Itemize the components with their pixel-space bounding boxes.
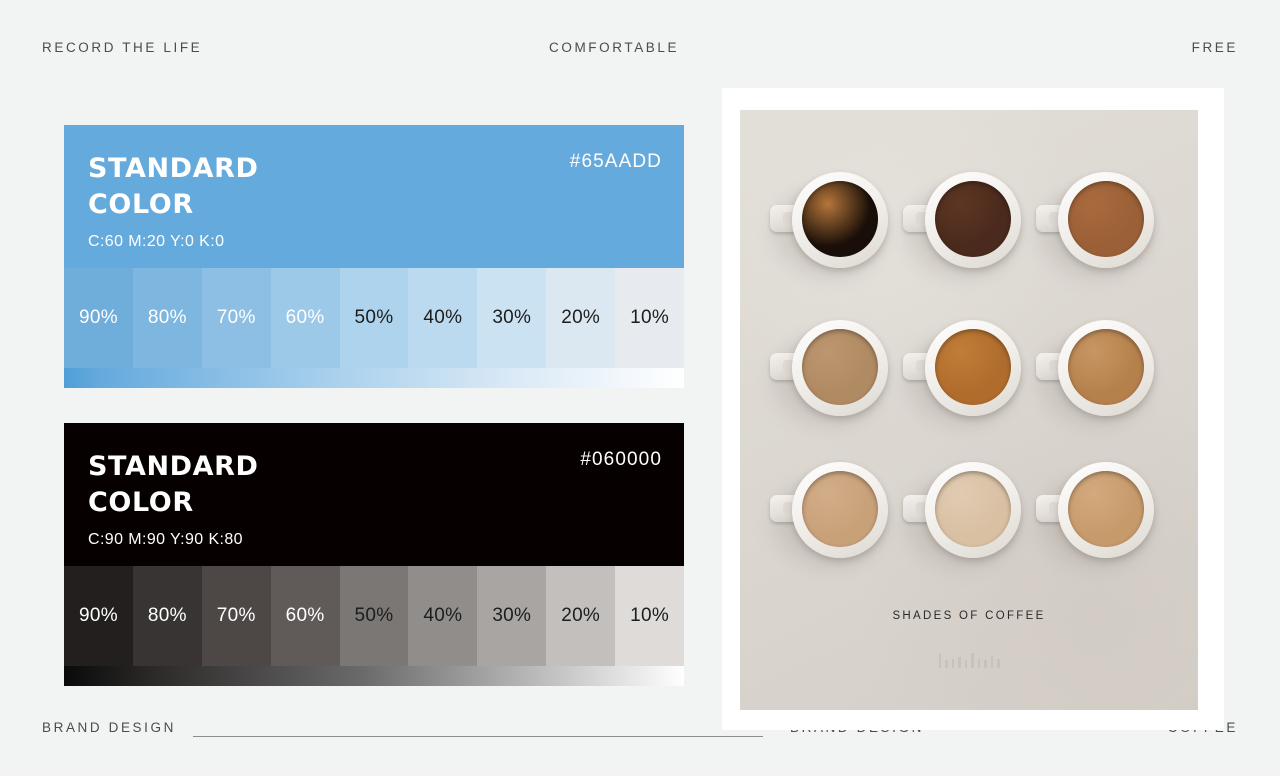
cup-body: [1058, 462, 1154, 558]
motif-bar: [945, 660, 948, 668]
footer-label-left: BRAND DESIGN: [42, 720, 176, 735]
palette-cmyk-blue: C:60 M:20 Y:0 K:0: [88, 233, 662, 251]
motif-bar: [958, 657, 961, 668]
motif-bar: [978, 659, 981, 668]
cup-body: [792, 172, 888, 268]
tint-label: 40%: [423, 605, 462, 627]
footer-divider: [193, 736, 763, 737]
cup-liquid: [935, 181, 1011, 257]
tint-row-black: 90%80%70%60%50%40%30%20%10%: [64, 566, 684, 666]
photo-card: SHADES OF COFFEE: [722, 88, 1224, 730]
tint-swatch: 50%: [340, 566, 409, 666]
motif-bar: [971, 653, 974, 668]
motif-bar: [965, 660, 968, 668]
cup-cappuccino-foam: [1058, 320, 1154, 416]
motif-bar: [984, 660, 987, 668]
motif-bar: [952, 659, 955, 668]
header-label-right: FREE: [1192, 40, 1238, 55]
tint-label: 60%: [286, 605, 325, 627]
palette-header-black: STANDARD COLOR C:90 M:90 Y:90 K:80 #0600…: [64, 423, 684, 566]
tint-label: 30%: [492, 605, 531, 627]
coffee-photo: SHADES OF COFFEE: [740, 110, 1198, 710]
tint-label: 30%: [492, 307, 531, 329]
cup-body: [925, 172, 1021, 268]
tint-label: 40%: [423, 307, 462, 329]
cup-body: [792, 462, 888, 558]
tint-label: 20%: [561, 307, 600, 329]
tint-row-blue: 90%80%70%60%50%40%30%20%10%: [64, 268, 684, 368]
palette-block-black: STANDARD COLOR C:90 M:90 Y:90 K:80 #0600…: [64, 423, 684, 686]
page-header: RECORD THE LIFE COMFORTABLE FREE: [0, 0, 1280, 92]
tint-swatch: 90%: [64, 566, 133, 666]
motif-bar: [997, 659, 1000, 668]
photo-caption: SHADES OF COFFEE: [740, 610, 1198, 622]
cup-body: [925, 320, 1021, 416]
header-label-left: RECORD THE LIFE: [42, 40, 202, 55]
cup-liquid: [802, 181, 878, 257]
tint-label: 90%: [79, 605, 118, 627]
tint-label: 80%: [148, 605, 187, 627]
tint-swatch: 80%: [133, 566, 202, 666]
bar-chart-motif-icon: [740, 642, 1198, 668]
tint-swatch: 40%: [408, 268, 477, 368]
tint-swatch: 90%: [64, 268, 133, 368]
cup-caramel-macchiato: [1058, 462, 1154, 558]
cup-espresso-crema: [925, 320, 1021, 416]
tint-label: 90%: [79, 307, 118, 329]
cup-liquid: [1068, 471, 1144, 547]
palette-header-blue: STANDARD COLOR C:60 M:20 Y:0 K:0 #65AADD: [64, 125, 684, 268]
tint-swatch: 10%: [615, 566, 684, 666]
cup-body: [1058, 320, 1154, 416]
tint-swatch: 50%: [340, 268, 409, 368]
tint-swatch: 60%: [271, 268, 340, 368]
tint-swatch: 40%: [408, 566, 477, 666]
palette-block-blue: STANDARD COLOR C:60 M:20 Y:0 K:0 #65AADD…: [64, 125, 684, 388]
cup-dark-roast: [925, 172, 1021, 268]
motif-bar: [939, 654, 942, 668]
cup-liquid: [935, 329, 1011, 405]
cup-flat-white: [792, 462, 888, 558]
gradient-strip-blue: [64, 368, 684, 388]
tint-label: 20%: [561, 605, 600, 627]
cup-light-latte: [792, 320, 888, 416]
tint-swatch: 20%: [546, 268, 615, 368]
cup-milky-coffee: [925, 462, 1021, 558]
cup-medium-crema: [1058, 172, 1154, 268]
tint-label: 10%: [630, 307, 669, 329]
palette-hex-black: #060000: [580, 449, 662, 471]
tint-swatch: 30%: [477, 566, 546, 666]
tint-swatch: 70%: [202, 268, 271, 368]
tint-label: 70%: [217, 605, 256, 627]
cup-liquid: [935, 471, 1011, 547]
tint-swatch: 80%: [133, 268, 202, 368]
cup-liquid: [802, 329, 878, 405]
motif-bar: [991, 656, 994, 668]
tint-label: 50%: [355, 605, 394, 627]
gradient-strip-black: [64, 666, 684, 686]
cup-body: [1058, 172, 1154, 268]
tint-label: 70%: [217, 307, 256, 329]
cup-body: [792, 320, 888, 416]
palette-cmyk-black: C:90 M:90 Y:90 K:80: [88, 531, 662, 549]
palette-title-black: STANDARD COLOR: [88, 449, 662, 521]
tint-swatch: 30%: [477, 268, 546, 368]
palette-hex-blue: #65AADD: [570, 151, 662, 173]
cup-black-coffee: [792, 172, 888, 268]
tint-label: 50%: [355, 307, 394, 329]
tint-swatch: 60%: [271, 566, 340, 666]
cup-body: [925, 462, 1021, 558]
cup-liquid: [802, 471, 878, 547]
cup-liquid: [1068, 181, 1144, 257]
coffee-cup-grid: [740, 110, 1198, 580]
tint-label: 80%: [148, 307, 187, 329]
cup-liquid: [1068, 329, 1144, 405]
header-label-center: COMFORTABLE: [549, 40, 679, 55]
tint-label: 10%: [630, 605, 669, 627]
tint-swatch: 10%: [615, 268, 684, 368]
tint-swatch: 70%: [202, 566, 271, 666]
tint-label: 60%: [286, 307, 325, 329]
tint-swatch: 20%: [546, 566, 615, 666]
